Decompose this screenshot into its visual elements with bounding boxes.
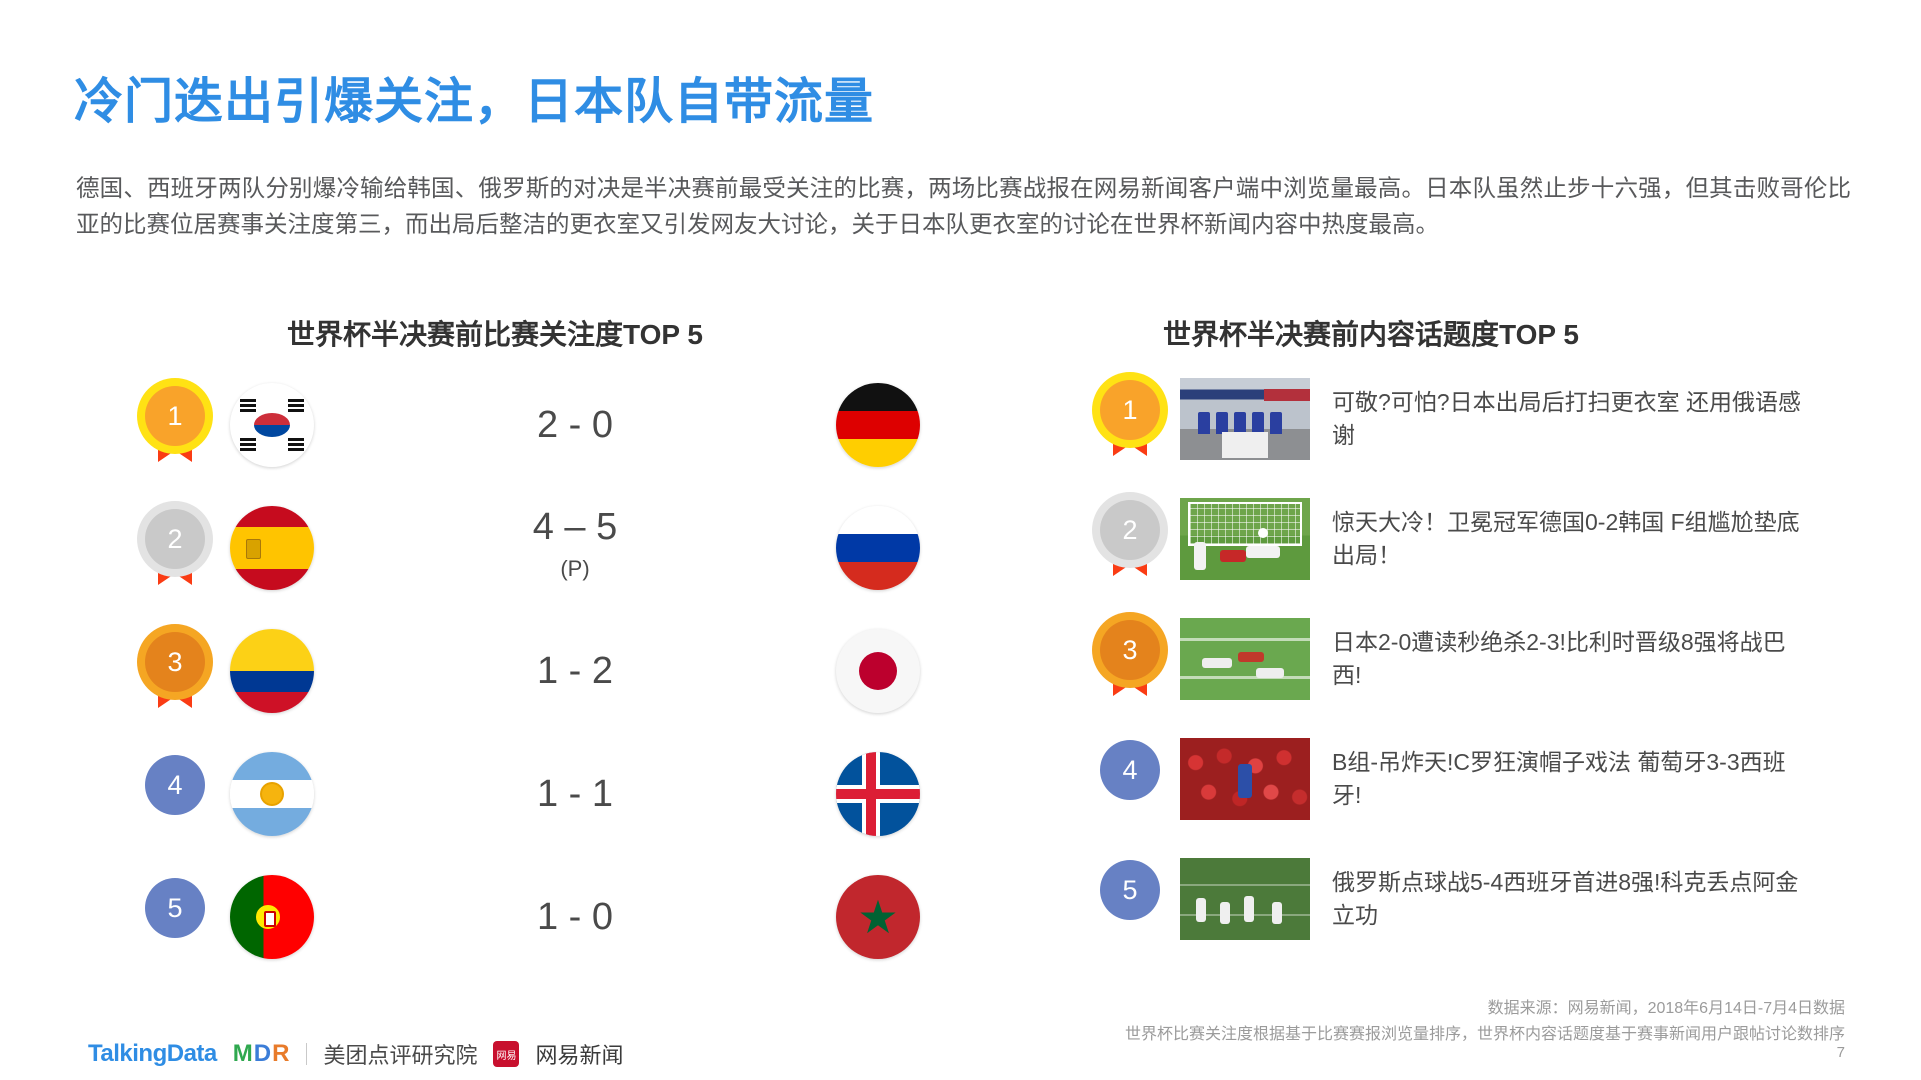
medal-number: 1	[1100, 380, 1160, 440]
medal-number: 3	[145, 632, 205, 692]
rank-cell: 4	[1080, 740, 1180, 818]
rank-cell: 3	[1080, 620, 1180, 698]
medal-rank-2: 2	[1100, 500, 1160, 578]
score-text: 4 – 5	[533, 506, 618, 548]
celebration-thumbnail	[1180, 858, 1310, 940]
match-score: 1 - 1	[314, 774, 836, 814]
lede-paragraph: 德国、西班牙两队分别爆冷输给韩国、俄罗斯的对决是半决赛前最受关注的比赛，两场比赛…	[76, 170, 1851, 242]
news-title[interactable]: 惊天大冷！卫冕冠军德国0-2韩国 F组尴尬垫底出局！	[1332, 506, 1802, 572]
colombia-flag-icon	[230, 629, 314, 713]
medal-rank-3: 3	[1100, 620, 1160, 698]
score-text: 1 - 2	[537, 650, 613, 692]
medal-rank-5: 5	[145, 878, 205, 956]
list-item[interactable]: 1 可敬?可怕?日本出局后打扫更衣室 还用俄语感谢	[1080, 375, 1820, 463]
medal-rank-2: 2	[145, 509, 205, 587]
argentina-flag-icon	[230, 752, 314, 836]
match-score: 2 - 0	[314, 405, 836, 445]
divider	[306, 1043, 307, 1065]
table-row: 4 1 - 1	[120, 744, 920, 844]
medal-rank-1: 1	[145, 386, 205, 464]
medal-number: 1	[145, 386, 205, 446]
source-note: 数据来源：网易新闻，2018年6月14日-7月4日数据 世界杯比赛关注度根据基于…	[1125, 996, 1845, 1048]
rank-cell: 1	[120, 386, 230, 464]
medal-rank-4: 4	[1100, 740, 1160, 818]
locker-room-thumbnail	[1180, 378, 1310, 460]
spain-flag-icon	[230, 506, 314, 590]
rank-cell: 4	[120, 755, 230, 833]
table-row: 1 2 - 0	[120, 375, 920, 475]
page-title: 冷门迭出引爆关注，日本队自带流量	[74, 62, 874, 133]
match-score: 4 – 5 (P)	[314, 507, 836, 589]
talkingdata-logo: TalkingData	[88, 1040, 217, 1068]
medal-rank-3: 3	[145, 632, 205, 710]
russia-flag-icon	[836, 506, 920, 590]
news-topic-list: 1 可敬?可怕?日本出局后打扫更衣室 还用俄语感谢 2	[1080, 375, 1820, 975]
germany-flag-icon	[836, 383, 920, 467]
table-row: 2 4 – 5 (P)	[120, 498, 920, 598]
match-score: 1 - 0	[314, 897, 836, 937]
red-crowd-thumbnail	[1180, 738, 1310, 820]
source-line-2: 世界杯比赛关注度根据基于比赛赛报浏览量排序，世界杯内容话题度基于赛事新闻用户跟帖…	[1125, 1022, 1845, 1048]
south-korea-flag-icon	[230, 383, 314, 467]
rank-cell: 2	[1080, 500, 1180, 578]
news-title[interactable]: 日本2-0遭读秒绝杀2-3!比利时晋级8强将战巴西!	[1332, 626, 1802, 692]
rank-cell: 5	[120, 878, 230, 956]
penalty-note: (P)	[314, 549, 836, 589]
rank-cell: 5	[1080, 860, 1180, 938]
medal-number: 2	[145, 509, 205, 569]
list-item[interactable]: 5 俄罗斯点球战5-4西班牙首进8强!科克丢点阿金立功	[1080, 855, 1820, 943]
medal-number: 5	[1100, 860, 1160, 920]
logo-bar: TalkingData MDR 美团点评研究院 网易 网易新闻	[88, 1038, 623, 1070]
news-title[interactable]: 可敬?可怕?日本出局后打扫更衣室 还用俄语感谢	[1332, 386, 1802, 452]
medal-rank-5: 5	[1100, 860, 1160, 938]
medal-number: 3	[1100, 620, 1160, 680]
netease-badge-icon: 网易	[493, 1041, 519, 1067]
score-text: 1 - 0	[537, 896, 613, 938]
left-section-heading: 世界杯半决赛前比赛关注度TOP 5	[287, 313, 703, 353]
score-text: 1 - 1	[537, 773, 613, 815]
medal-number: 5	[145, 878, 205, 938]
iceland-flag-icon	[836, 752, 920, 836]
medal-number: 2	[1100, 500, 1160, 560]
mdr-logo: MDR	[233, 1040, 291, 1068]
morocco-flag-icon: ★	[836, 875, 920, 959]
medal-rank-1: 1	[1100, 380, 1160, 458]
match-score: 1 - 2	[314, 651, 836, 691]
japan-flag-icon	[836, 629, 920, 713]
table-row: 3 1 - 2	[120, 621, 920, 721]
medal-number: 4	[145, 755, 205, 815]
news-title[interactable]: 俄罗斯点球战5-4西班牙首进8强!科克丢点阿金立功	[1332, 866, 1802, 932]
match-attention-list: 1 2 - 0 2	[120, 375, 920, 990]
meituan-research-logo: 美团点评研究院	[323, 1038, 477, 1070]
slide: 冷门迭出引爆关注，日本队自带流量 德国、西班牙两队分别爆冷输给韩国、俄罗斯的对决…	[0, 0, 1921, 1080]
rank-cell: 3	[120, 632, 230, 710]
score-text: 2 - 0	[537, 404, 613, 446]
source-line-1: 数据来源：网易新闻，2018年6月14日-7月4日数据	[1125, 996, 1845, 1022]
medal-number: 4	[1100, 740, 1160, 800]
medal-rank-4: 4	[145, 755, 205, 833]
rank-cell: 2	[120, 509, 230, 587]
right-section-heading: 世界杯半决赛前内容话题度TOP 5	[1163, 313, 1579, 353]
table-row: 5 1 - 0 ★	[120, 867, 920, 967]
list-item[interactable]: 3 日本2-0遭读秒绝杀2-3!比利时晋级8强将战巴西!	[1080, 615, 1820, 703]
players-on-pitch-thumbnail	[1180, 618, 1310, 700]
news-title[interactable]: B组-吊炸天!C罗狂演帽子戏法 葡萄牙3-3西班牙!	[1332, 746, 1802, 812]
list-item[interactable]: 2 惊天大冷！卫冕冠军德国0-2韩国 F组尴尬垫底出局！	[1080, 495, 1820, 583]
rank-cell: 1	[1080, 380, 1180, 458]
goal-save-thumbnail	[1180, 498, 1310, 580]
list-item[interactable]: 4 B组-吊炸天!C罗狂演帽子戏法 葡萄牙3-3西班牙!	[1080, 735, 1820, 823]
netease-news-logo: 网易新闻	[535, 1038, 623, 1070]
page-number: 7	[1837, 1044, 1845, 1061]
portugal-flag-icon	[230, 875, 314, 959]
